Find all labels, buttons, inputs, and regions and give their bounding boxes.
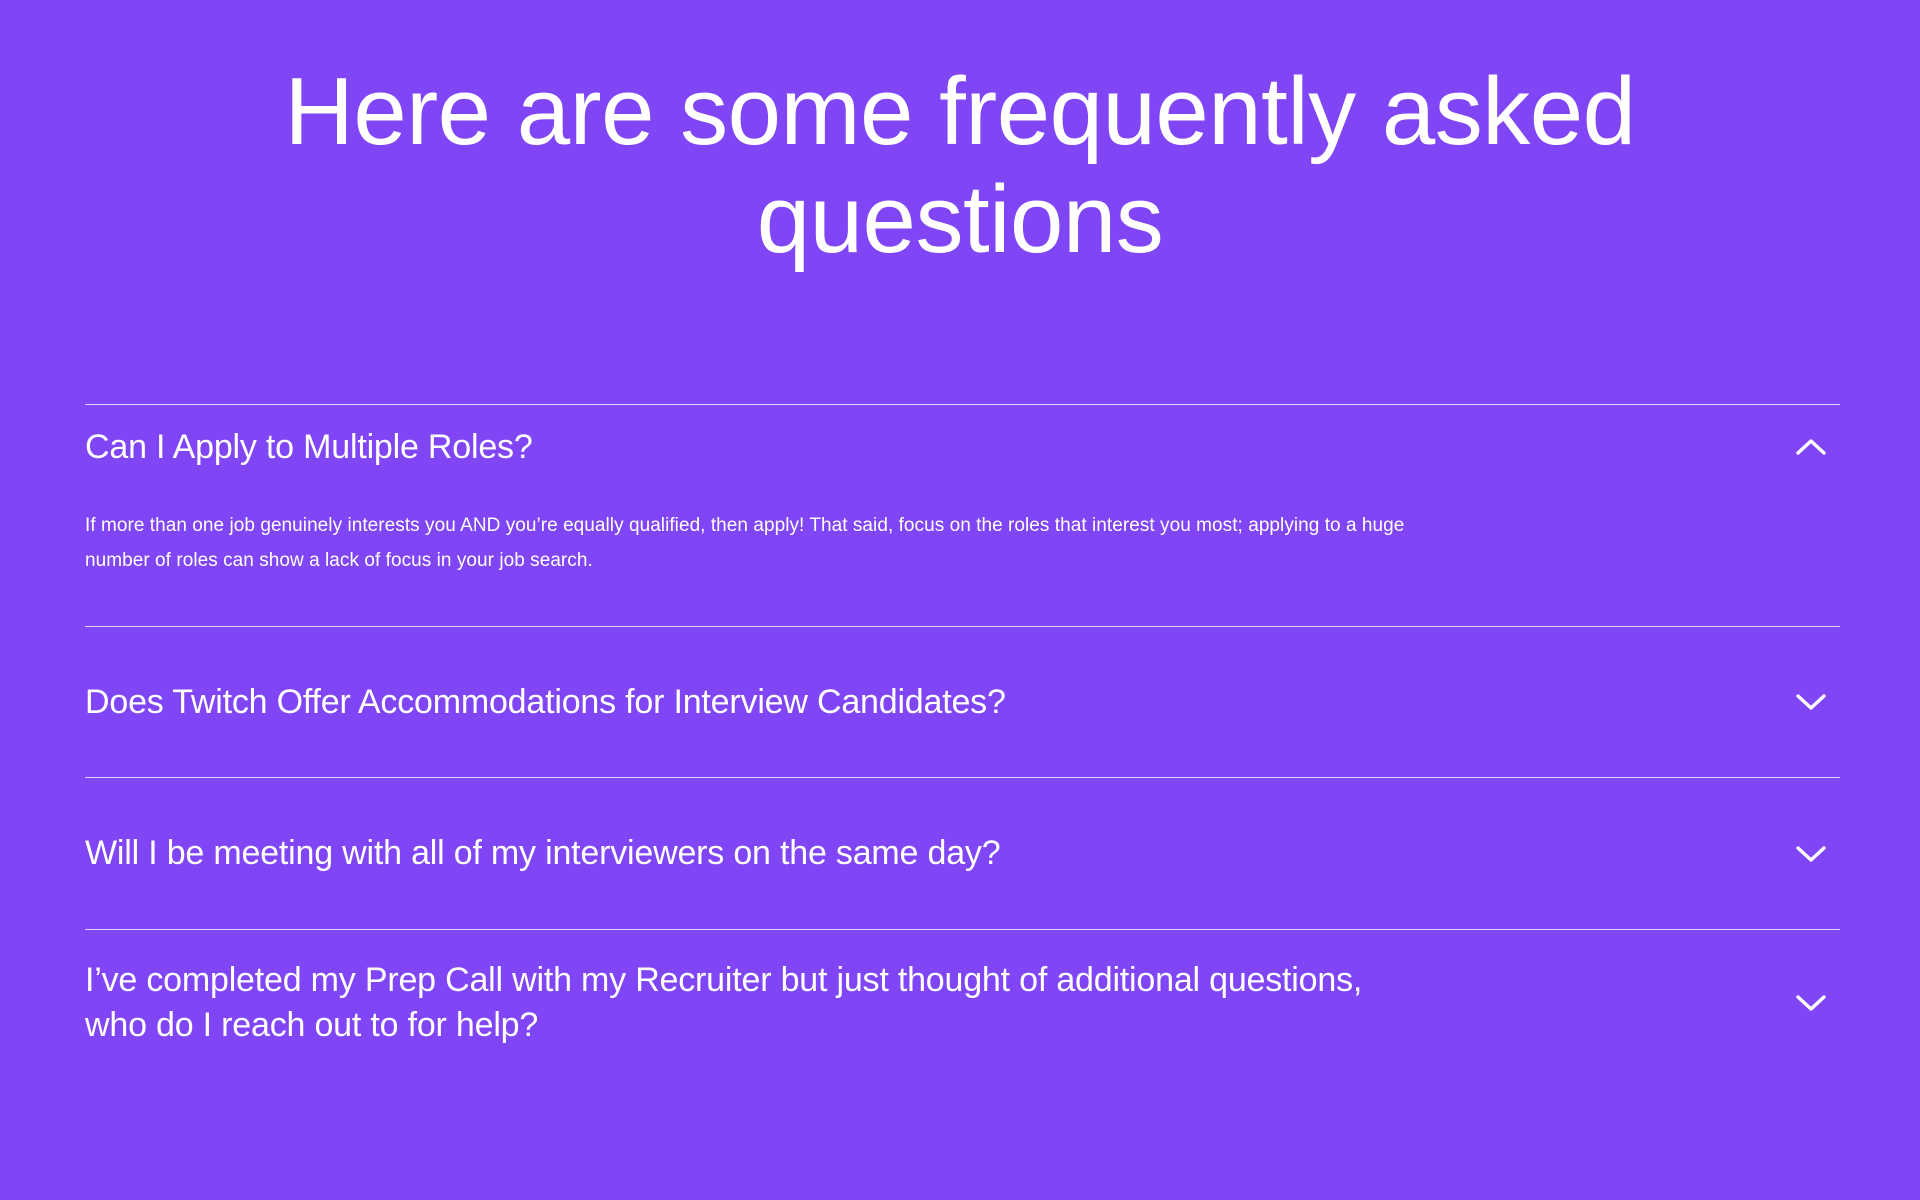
chevron-down-icon[interactable] [1794, 837, 1828, 871]
faq-question-toggle-1[interactable]: Does Twitch Offer Accommodations for Int… [85, 627, 1840, 777]
faq-item-3: I’ve completed my Prep Call with my Recr… [85, 930, 1840, 1075]
faq-page: Here are some frequently asked questions… [0, 0, 1920, 1200]
faq-question-label-3: I’ve completed my Prep Call with my Recr… [85, 958, 1794, 1046]
faq-divider [85, 929, 1840, 930]
faq-question-label-0: Can I Apply to Multiple Roles? [85, 425, 1794, 470]
faq-question-label-2: Will I be meeting with all of my intervi… [85, 831, 1794, 876]
faq-item-0: Can I Apply to Multiple Roles? If more t… [85, 405, 1840, 626]
chevron-down-icon[interactable] [1794, 685, 1828, 719]
faq-divider [85, 404, 1840, 405]
faq-question-toggle-2[interactable]: Will I be meeting with all of my intervi… [85, 778, 1840, 929]
faq-question-toggle-0[interactable]: Can I Apply to Multiple Roles? [85, 405, 1840, 489]
faq-divider [85, 626, 1840, 627]
faq-question-toggle-3[interactable]: I’ve completed my Prep Call with my Recr… [85, 930, 1840, 1075]
faq-divider [85, 777, 1840, 778]
chevron-up-icon[interactable] [1794, 430, 1828, 464]
faq-answer-0: If more than one job genuinely interests… [85, 489, 1840, 626]
faq-question-label-1: Does Twitch Offer Accommodations for Int… [85, 680, 1794, 725]
faq-item-2: Will I be meeting with all of my intervi… [85, 778, 1840, 929]
faq-item-1: Does Twitch Offer Accommodations for Int… [85, 627, 1840, 777]
chevron-down-icon[interactable] [1794, 986, 1828, 1020]
faq-accordion: Can I Apply to Multiple Roles? If more t… [85, 404, 1840, 1075]
page-title: Here are some frequently asked questions [0, 0, 1920, 273]
